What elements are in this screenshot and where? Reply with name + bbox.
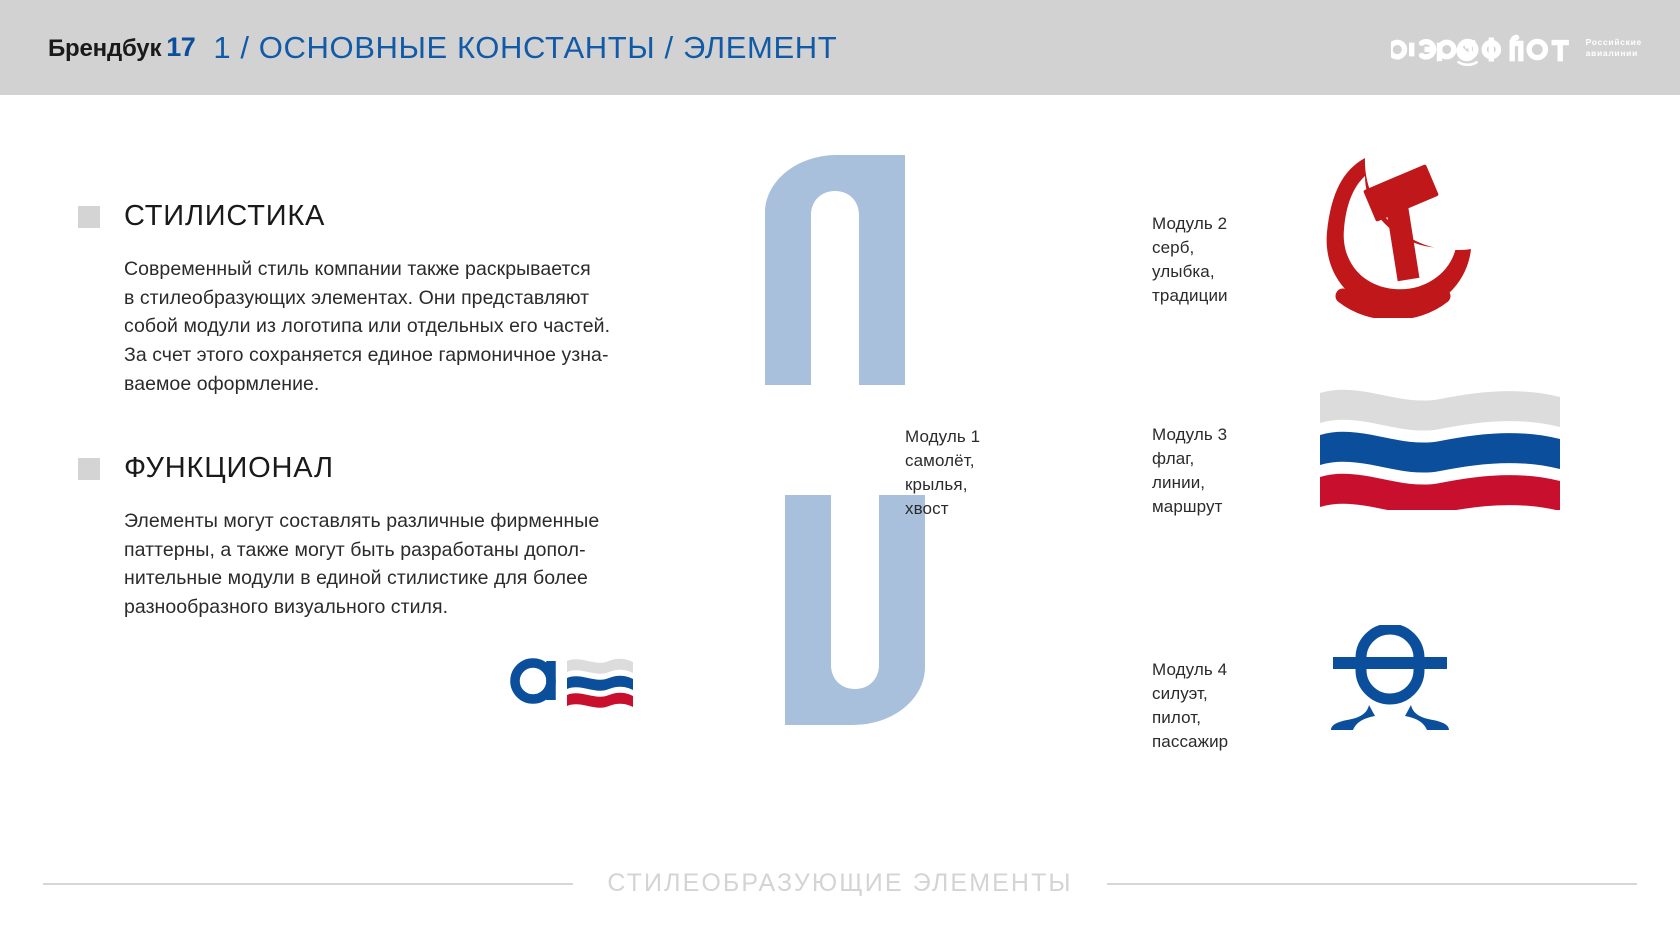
page-title: 1 / ОСНОВНЫЕ КОНСТАНТЫ / ЭЛЕМЕНТ (213, 30, 837, 66)
bullet-square-icon (78, 458, 100, 480)
hammer-sickle-icon (1313, 148, 1473, 318)
footer-rule-left (43, 883, 573, 885)
brandbook-label-group: Брендбук17 (48, 32, 195, 63)
section-functional-body: Элементы могут составлять различные фирм… (124, 507, 678, 622)
section-functional-header: ФУНКЦИОНАЛ (78, 452, 678, 485)
module-4-art (1325, 625, 1455, 735)
section-stylistics-heading: СТИЛИСТИКА (124, 200, 325, 233)
bullet-square-icon (78, 206, 100, 228)
pilot-silhouette-icon (1325, 625, 1455, 730)
logo-tagline-line-2: авиалинии (1586, 48, 1642, 59)
pattern-sample-a-flag (505, 645, 665, 720)
section-functional-heading: ФУНКЦИОНАЛ (124, 452, 334, 485)
logo-tagline: Российские авиалинии (1586, 37, 1642, 59)
aeroflot-wordmark-icon (1391, 28, 1577, 68)
footer-rule-right (1107, 883, 1637, 885)
module-3-art (1320, 385, 1560, 515)
module-2-caption: Модуль 2 серб, улыбка, традиции (1152, 212, 1228, 309)
footer-text: СТИЛЕОБРАЗУЮЩИЕ ЭЛЕМЕНТЫ (607, 869, 1072, 898)
section-stylistics: СТИЛИСТИКА Современный стиль компании та… (78, 200, 678, 398)
section-functional: ФУНКЦИОНАЛ Элементы могут составлять раз… (78, 452, 678, 622)
header-bar: Брендбук17 1 / ОСНОВНЫЕ КОНСТАНТЫ / ЭЛЕМ… (0, 0, 1680, 95)
module-3-caption: Модуль 3 флаг, линии, маршрут (1152, 423, 1227, 520)
slide-root: Брендбук17 1 / ОСНОВНЫЕ КОНСТАНТЫ / ЭЛЕМ… (0, 0, 1680, 944)
a-with-flag-waves-icon (505, 645, 665, 715)
brandbook-number: 17 (166, 32, 195, 62)
russian-flag-waves-icon (1320, 385, 1560, 510)
module-1-caption: Модуль 1 самолёт, крылья, хвост (905, 425, 980, 522)
brandbook-label: Брендбук (48, 35, 161, 62)
section-stylistics-body: Современный стиль компании также раскрыв… (124, 255, 678, 398)
section-stylistics-header: СТИЛИСТИКА (78, 200, 678, 233)
module-2-art (1313, 148, 1473, 323)
header-title-group: Брендбук17 1 / ОСНОВНЫЕ КОНСТАНТЫ / ЭЛЕМ… (48, 0, 837, 95)
aeroflot-logo: Российские авиалинии (1391, 28, 1642, 68)
footer: СТИЛЕОБРАЗУЮЩИЕ ЭЛЕМЕНТЫ (0, 869, 1680, 898)
logo-tagline-line-1: Российские (1586, 37, 1642, 48)
module-4-caption: Модуль 4 силуэт, пилот, пассажир (1152, 658, 1228, 755)
